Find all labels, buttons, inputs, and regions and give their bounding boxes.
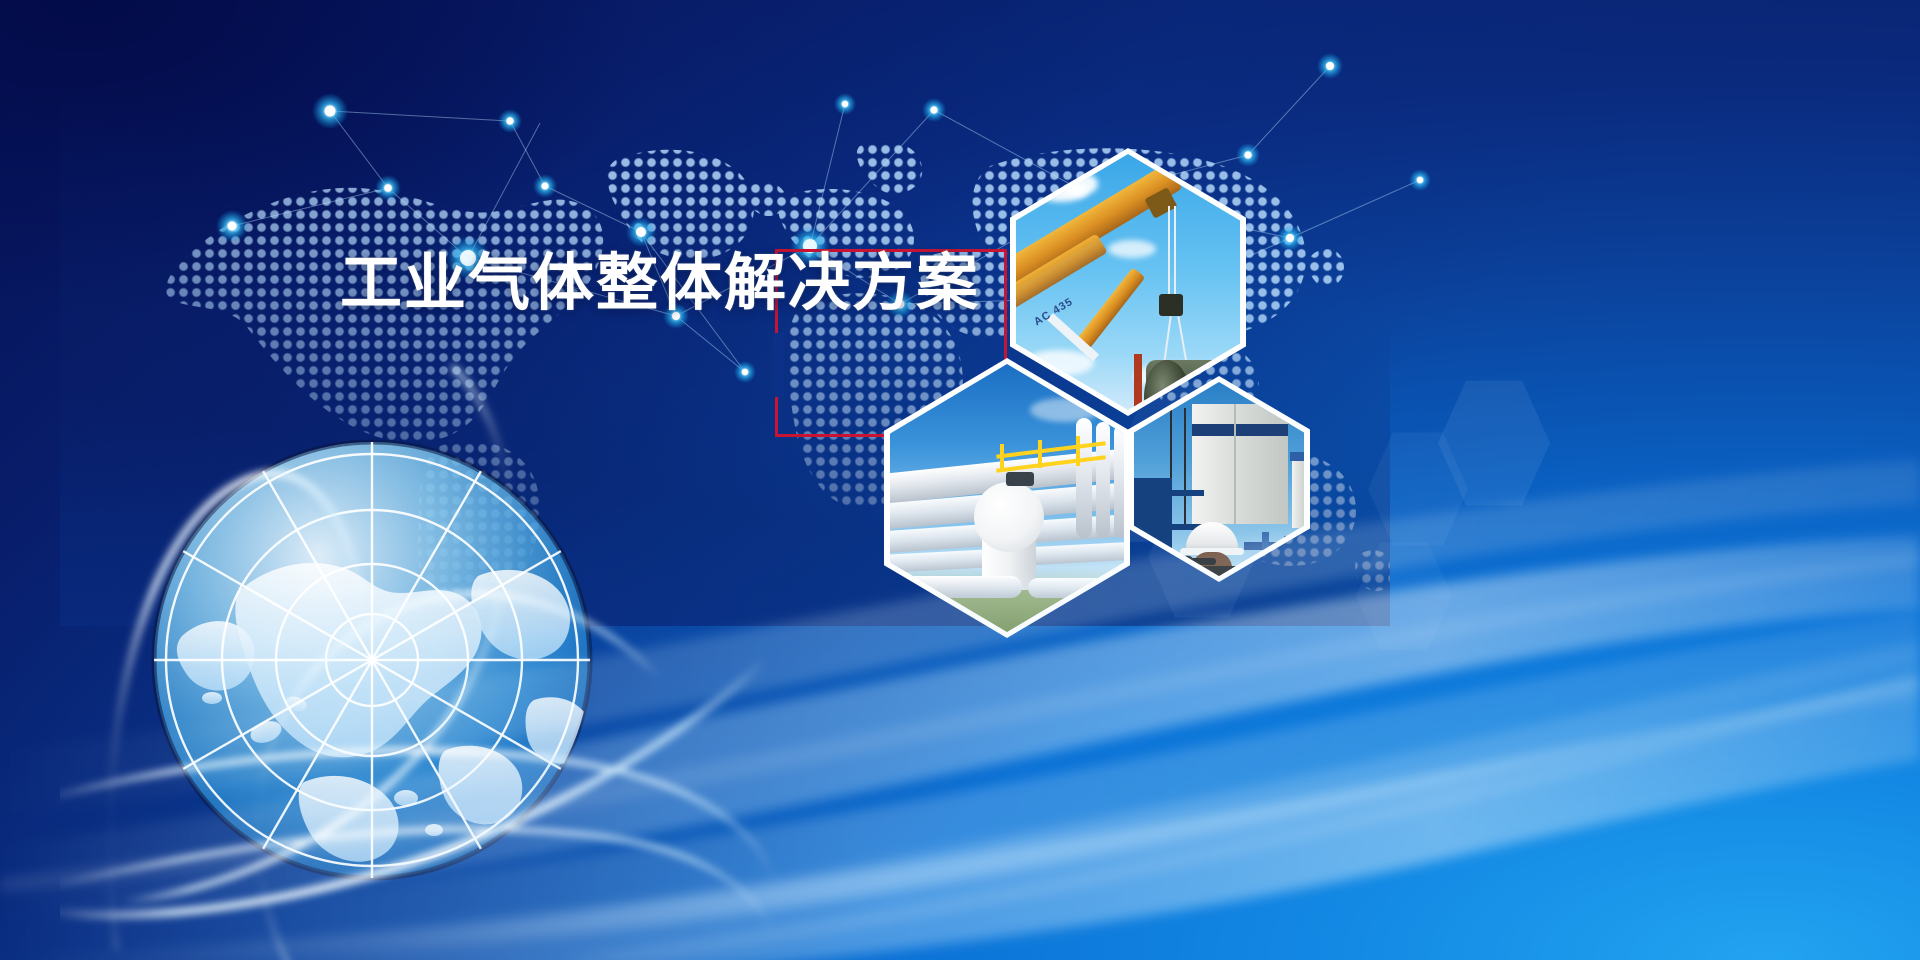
light-wave-ribbons bbox=[0, 400, 1920, 960]
banner-root: 工业气体整体解决方案 bbox=[0, 0, 1920, 960]
